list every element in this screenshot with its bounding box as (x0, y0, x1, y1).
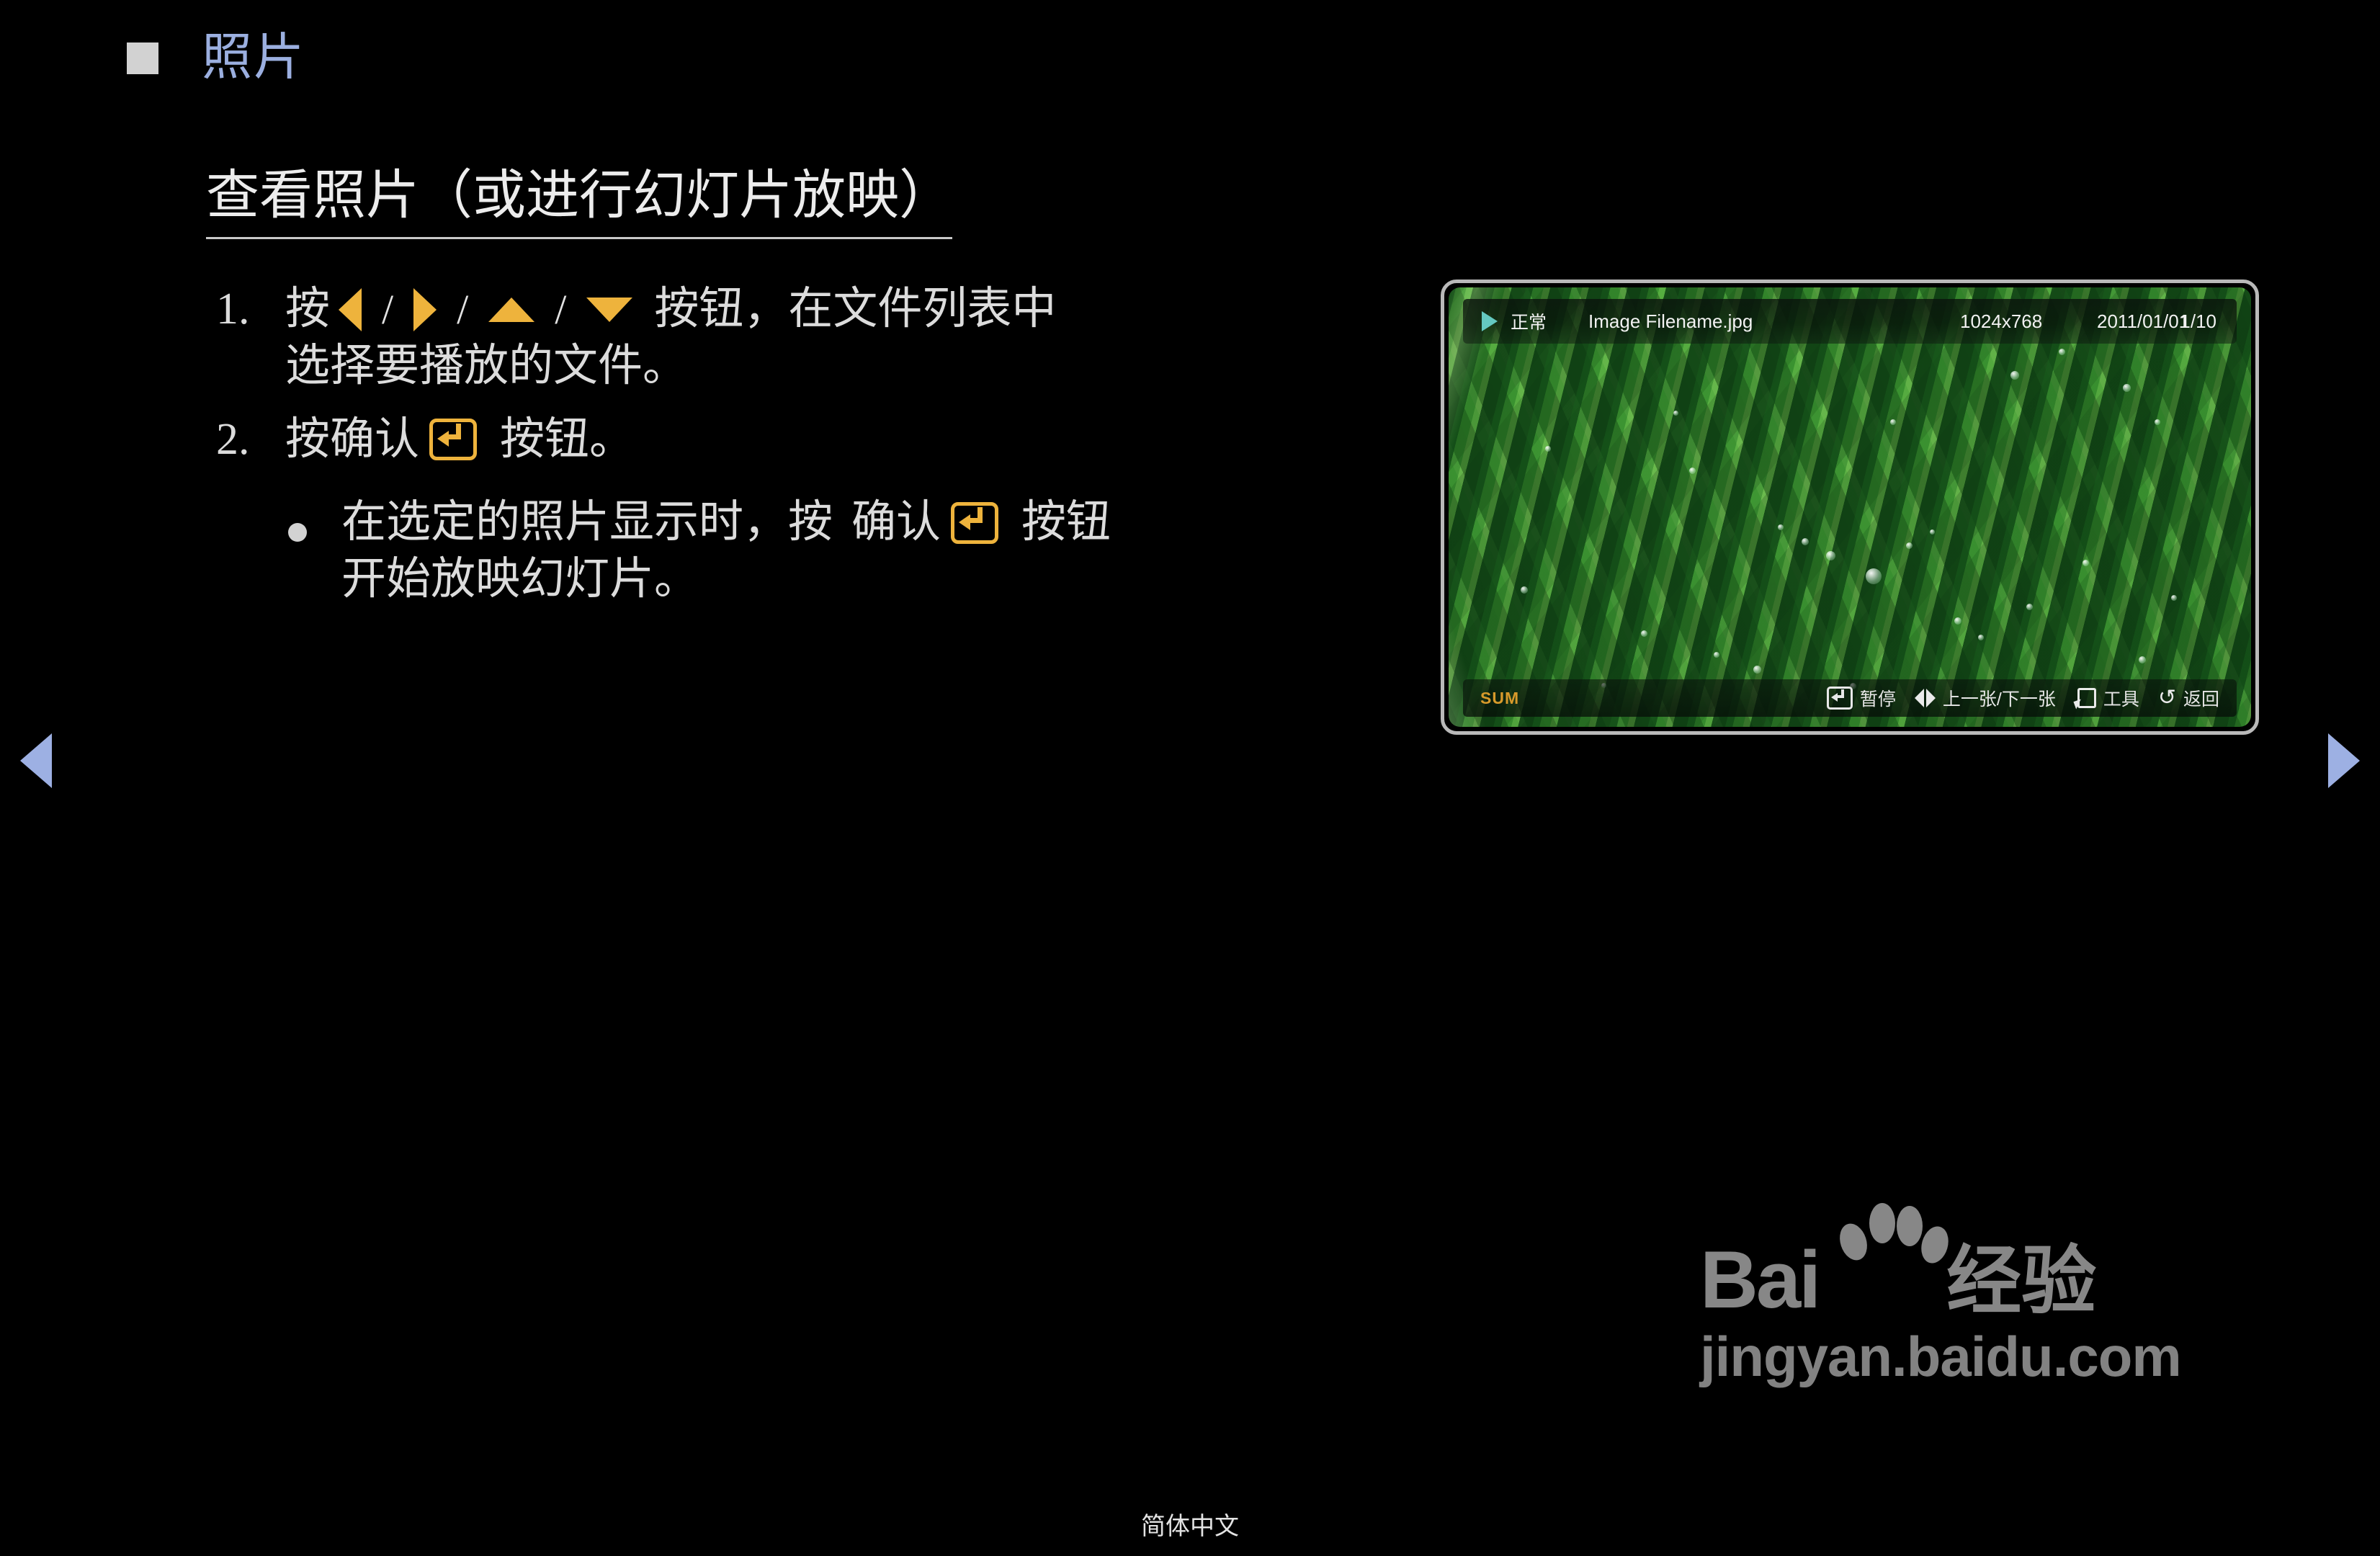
list-item-body: 按确认 按钮。 (285, 411, 634, 468)
photo-preview-image (1449, 287, 2251, 727)
key-separator: / (457, 283, 468, 336)
sub-bullet-text-c: 按钮 (1021, 494, 1111, 551)
play-triangle-icon (1482, 311, 1498, 331)
pause-action-label: 暂停 (1860, 685, 1896, 711)
photo-mode-label: 正常 (1511, 308, 1547, 334)
instruction-line-1: 按 / / / 按钮，在文件列表中 (285, 281, 1056, 338)
instruction-suffix: 按钮，在文件列表中 (654, 281, 1056, 338)
photo-viewer-info-bar: 正常 Image Filename.jpg 1024x768 2011/01/0… (1463, 299, 2237, 344)
list-item: 2. 按确认 按钮。 (216, 411, 1397, 468)
return-arrow-icon: ↻ (2158, 687, 2176, 709)
photo-resolution-label: 1024x768 (1960, 310, 2042, 333)
baidu-du-text: du (1858, 1253, 1920, 1313)
baidu-url-text: jingyan.baidu.com (1700, 1324, 2247, 1390)
enter-key-icon (951, 502, 998, 544)
enter-arrow-head (437, 431, 449, 447)
prev-next-action[interactable]: 上一张/下一张 (1915, 685, 2056, 711)
photo-counter-label: 1/10 (2180, 310, 2216, 333)
instruction-prefix: 按确认 (285, 411, 419, 468)
return-action-label: 返回 (2183, 685, 2219, 711)
next-page-arrow[interactable] (2328, 733, 2360, 788)
enter-arrow-stem (977, 507, 983, 523)
tools-cursor-icon (2075, 688, 2096, 708)
sub-bullet-text-a: 在选定的照片显示时，按 (341, 494, 833, 551)
instruction-prefix: 按 (285, 281, 330, 338)
baidu-jingyan-text: 经验 (1946, 1243, 2096, 1318)
arrow-down-icon (586, 298, 632, 322)
list-item-body: 按 / / / 按钮，在文件列表中 选择要播放的文件。 (285, 281, 1056, 395)
action-button-group: 暂停 上一张/下一张 工具 ↻ 返回 (1827, 685, 2219, 711)
footer-language-label: 简体中文 (0, 1506, 2380, 1542)
section-heading: 查看照片（或进行幻灯片放映） (206, 166, 952, 239)
instruction-suffix: 按钮。 (500, 411, 634, 468)
baidu-watermark: Bai du 经验 jingyan.baidu.com (1700, 1225, 2247, 1390)
sub-bullet-body: 在选定的照片显示时，按 确认 按钮 开始放映幻灯片。 (341, 494, 1111, 609)
bullet-dot-icon (288, 523, 307, 542)
photo-date-label: 2011/01/01 (2097, 310, 2189, 333)
instruction-line-2: 选择要播放的文件。 (285, 338, 1056, 395)
enter-key-icon (429, 419, 477, 460)
return-action[interactable]: ↻ 返回 (2158, 685, 2219, 711)
baidu-paw-icon: du (1813, 1196, 1946, 1318)
left-right-arrows-icon (1915, 689, 1936, 707)
instruction-list: 1. 按 / / / 按钮，在文件列表中 选择要播放的文件。 2. 按确认 (216, 281, 1397, 609)
arrow-left-icon (339, 288, 362, 331)
tv-photo-viewer-panel: 正常 Image Filename.jpg 1024x768 2011/01/0… (1441, 280, 2259, 735)
sum-label: SUM (1480, 689, 1519, 708)
arrow-up-icon (488, 298, 534, 322)
baidu-logo-row: Bai du 经验 (1700, 1225, 2247, 1318)
list-item: 1. 按 / / / 按钮，在文件列表中 选择要播放的文件。 (216, 281, 1397, 395)
instruction-line-1: 按确认 按钮。 (285, 411, 634, 468)
sub-bullet-line-2: 开始放映幻灯片。 (341, 551, 1111, 608)
page-title-row: 照片 (127, 33, 305, 84)
key-separator: / (555, 283, 566, 336)
sub-bullet-line-1: 在选定的照片显示时，按 确认 按钮 (341, 494, 1111, 551)
photo-viewer-action-bar: SUM 暂停 上一张/下一张 工具 ↻ (1463, 679, 2237, 717)
baidu-bai-text: Bai (1700, 1242, 1819, 1318)
prev-next-action-label: 上一张/下一张 (1943, 685, 2056, 711)
enter-key-icon (1827, 687, 1853, 710)
sub-bullet-text-b: 确认 (851, 494, 941, 551)
list-item-number: 2. (216, 411, 285, 468)
prev-page-arrow[interactable] (20, 733, 52, 788)
title-bullet-square (127, 43, 158, 74)
page-title: 照片 (202, 33, 305, 84)
photo-filename-label: Image Filename.jpg (1588, 310, 1753, 333)
pause-action[interactable]: 暂停 (1827, 685, 1896, 711)
tools-action-label: 工具 (2103, 685, 2139, 711)
enter-arrow-stem (456, 424, 461, 439)
tools-action[interactable]: 工具 (2075, 685, 2139, 711)
key-separator: / (382, 283, 393, 336)
sub-bullet-item: 在选定的照片显示时，按 确认 按钮 开始放映幻灯片。 (288, 494, 1397, 609)
list-item-number: 1. (216, 281, 285, 338)
arrow-right-icon (413, 288, 437, 331)
enter-arrow-head (959, 514, 970, 530)
